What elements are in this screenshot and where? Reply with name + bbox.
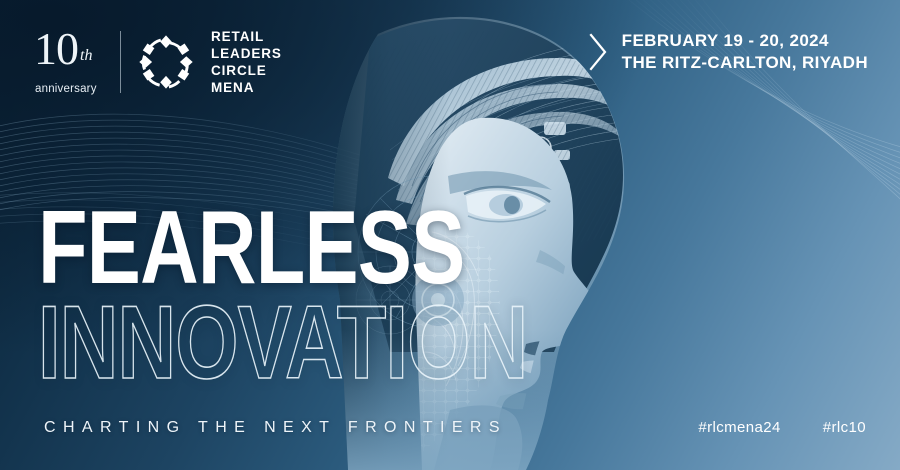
event-date: FEBRUARY 19 - 20, 2024: [622, 30, 868, 52]
logo-lockup[interactable]: 10 th anniversary: [34, 28, 282, 96]
brand-name: RETAIL LEADERS CIRCLE MENA: [211, 28, 282, 96]
chevron-right-icon: [588, 32, 608, 72]
event-banner: 10 th anniversary: [0, 0, 900, 470]
tagline: CHARTING THE NEXT FRONTIERS: [44, 419, 507, 437]
anniversary-ordinal: th: [80, 48, 92, 64]
headline-line-2: INNOVATION: [38, 300, 366, 387]
anniversary-mark: 10 th anniversary: [34, 29, 106, 95]
hashtag-group: #rlcmena24 #rlc10: [698, 419, 866, 436]
anniversary-label: anniversary: [35, 83, 97, 95]
event-info: FEBRUARY 19 - 20, 2024 THE RITZ-CARLTON,…: [588, 30, 868, 75]
headline-block: FEARLESS INNOVATION: [38, 205, 458, 388]
headline-line-1: FEARLESS: [38, 205, 366, 292]
retail-leaders-circle-emblem-icon: [137, 33, 195, 91]
hashtag-secondary: #rlc10: [823, 419, 866, 436]
logo-divider: [120, 31, 121, 93]
event-venue: THE RITZ-CARLTON, RIYADH: [622, 52, 868, 74]
anniversary-number: 10: [34, 26, 78, 72]
hashtag-primary: #rlcmena24: [698, 419, 780, 436]
